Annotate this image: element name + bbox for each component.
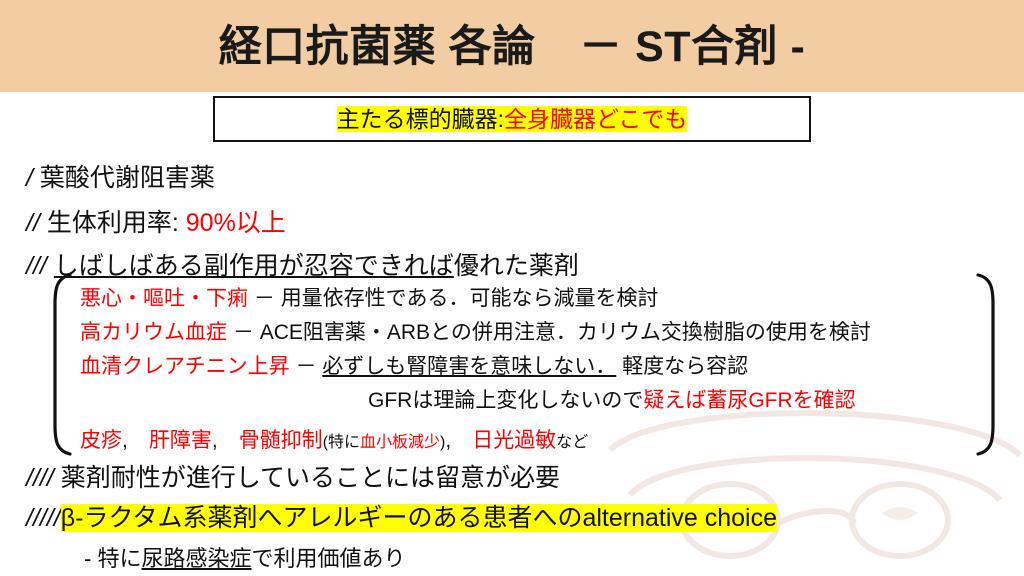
side-effect-tail: など bbox=[556, 434, 588, 451]
side-effect-item-myelosuppression: 骨髄抑制 bbox=[239, 429, 323, 452]
bullet-line-2: // 生体利用率: 90%以上 bbox=[26, 203, 286, 239]
side-effect-sep-1: , bbox=[122, 429, 149, 452]
side-effect-row-4-note: GFRは理論上変化しないので疑えば蓄尿GFRを確認 bbox=[368, 384, 856, 414]
bioavailability-label: 生体利用率: bbox=[47, 209, 179, 237]
side-effect-sep-2: , bbox=[212, 429, 239, 452]
bullet-marker-6: - bbox=[84, 546, 91, 571]
bullet-marker-3: /// bbox=[26, 252, 47, 280]
side-effect-row-2: 高カリウム血症 － ACE阻害薬・ARBとの併用注意．カリウム交換樹脂の使用を検… bbox=[80, 316, 871, 346]
bracket-right-icon bbox=[976, 272, 998, 457]
bioavailability-value: 90%以上 bbox=[186, 209, 286, 237]
bullet-line-4: //// 薬剤耐性が進行していることには留意が必要 bbox=[26, 458, 560, 494]
side-effect-name-1: 悪心・嘔吐・下痢 bbox=[80, 287, 248, 310]
bullet-text-6-underlined: 尿路感染症 bbox=[141, 546, 251, 571]
gfr-note-black: GFRは理論上変化しないので bbox=[368, 389, 643, 412]
side-effect-item-photosensitivity: 日光過敏 bbox=[472, 429, 556, 452]
side-effect-dash-2: － bbox=[233, 321, 254, 344]
side-effect-detail-3-underlined: 必ずしも腎障害を意味しない． bbox=[322, 355, 616, 378]
side-effect-row-3: 血清クレアチニン上昇 － 必ずしも腎障害を意味しない． 軽度なら容認 bbox=[80, 350, 748, 380]
bracket-left-icon bbox=[50, 272, 72, 457]
side-effect-name-2: 高カリウム血症 bbox=[80, 321, 227, 344]
bullet-marker-4: //// bbox=[26, 464, 54, 492]
bullet-marker-5: ///// bbox=[26, 504, 61, 532]
page-title: 経口抗菌薬 各論 － ST合剤 - bbox=[0, 12, 1024, 74]
side-effect-detail-3-tail: 軽度なら容認 bbox=[622, 355, 748, 378]
side-effect-item-rash: 皮疹 bbox=[80, 429, 122, 452]
bullet-text-1: 葉酸代謝阻害薬 bbox=[40, 164, 215, 192]
target-organ-text: 主たる標的臓器:全身臓器どこでも bbox=[337, 106, 688, 132]
side-effect-sep-3: , bbox=[445, 429, 472, 452]
bullet-marker-2: // bbox=[26, 209, 40, 237]
bullet-text-4: 薬剤耐性が進行していることには留意が必要 bbox=[61, 464, 560, 492]
target-organ-box: 主たる標的臓器:全身臓器どこでも bbox=[213, 96, 811, 142]
side-effect-detail-2: ACE阻害薬・ARBとの併用注意．カリウム交換樹脂の使用を検討 bbox=[260, 321, 871, 344]
bullet-line-5: /////β-ラクタム系薬剤へアレルギーのある患者へのalternative c… bbox=[26, 498, 777, 534]
side-effect-dash-1: － bbox=[254, 287, 275, 310]
side-effect-row-5: 皮疹, 肝障害, 骨髄抑制(特に血小板減少), 日光過敏など bbox=[80, 424, 588, 454]
side-effect-dash-3: － bbox=[295, 355, 316, 378]
bullet-text-6-tail: で利用価値あり bbox=[251, 546, 405, 571]
gfr-note-red: 疑えば蓄尿GFRを確認 bbox=[643, 389, 855, 412]
target-organ-label: 主たる標的臓器: bbox=[337, 106, 504, 132]
side-effect-detail-1: 用量依存性である．可能なら減量を検討 bbox=[281, 287, 659, 310]
bullet-line-1: / 葉酸代謝阻害薬 bbox=[26, 158, 215, 194]
bullet-marker-1: / bbox=[26, 164, 33, 192]
side-effects-group: 悪心・嘔吐・下痢 － 用量依存性である．可能なら減量を検討 高カリウム血症 － … bbox=[50, 272, 998, 457]
side-effect-paren-open: (特に bbox=[323, 434, 360, 451]
side-effect-row-1: 悪心・嘔吐・下痢 － 用量依存性である．可能なら減量を検討 bbox=[80, 282, 658, 312]
side-effect-name-3: 血清クレアチニン上昇 bbox=[80, 355, 290, 378]
target-organ-value: 全身臓器どこでも bbox=[504, 106, 687, 132]
side-effect-paren-thrombocytopenia: 血小板減少 bbox=[360, 434, 440, 451]
side-effect-item-hepatotoxicity: 肝障害 bbox=[149, 429, 212, 452]
bullet-text-5: β-ラクタム系薬剤へアレルギーのある患者へのalternative choice bbox=[61, 504, 777, 532]
bullet-line-6: - 特に尿路感染症で利用価値あり bbox=[84, 541, 406, 573]
slide-root: 経口抗菌薬 各論 － ST合剤 - 主たる標的臓器:全身臓器どこでも / 葉酸代… bbox=[0, 0, 1024, 576]
bullet-text-6-prefix: 特に bbox=[97, 546, 141, 571]
